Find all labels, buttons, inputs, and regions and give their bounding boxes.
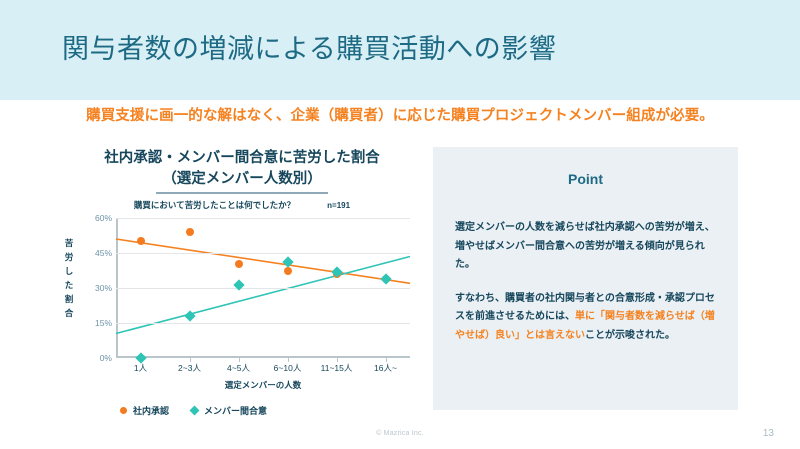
x-tick-label: 6~10人 [274,362,302,374]
point-panel-heading: Point [433,171,738,187]
y-tick-label: 45% [95,248,112,258]
point-paragraph-1: 選定メンバーの人数を減らせば社内承認への苦労が増え、増やせばメンバー間合意への苦… [455,219,716,275]
y-axis-title-char: た [62,278,76,292]
slide-header-band: 関与者数の増減による購買活動への影響 [0,0,800,100]
chart-title-divider [156,192,328,194]
slide-title: 関与者数の増減による購買活動への影響 [62,35,556,65]
point-paragraph-2-text-b: ことが示唆された。 [585,330,675,341]
x-tick-label: 16人~ [374,362,397,374]
chart-plot-wrapper: 苦労した割合 0%15%30%45%60% 1人2~3人4~5人6~10人11~… [62,218,422,393]
legend-item[interactable]: メンバー間合意 [191,404,267,417]
chart-sample-size: n=191 [327,201,350,210]
legend-item[interactable]: 社内承認 [120,404,169,417]
chart-y-axis-title: 苦労した割合 [62,236,76,320]
y-axis-title-char: 割 [62,292,76,306]
chart-title-line-2: （選定メンバー人数別） [72,169,412,190]
point-paragraph-2: すなわち、購買者の社内関与者との合意形成・承認プロセスを前進させるためには、単に… [455,290,716,346]
legend-label: 社内承認 [133,404,169,417]
legend-marker-circle-icon [120,407,127,414]
y-axis-title-char: 苦 [62,236,76,250]
gridline [116,218,410,219]
page-number: 13 [763,428,774,439]
y-axis-title-char: 労 [62,250,76,264]
chart-x-axis-title: 選定メンバーの人数 [116,379,410,391]
gridline [116,323,410,324]
data-point-circle [186,228,194,236]
data-point-circle [284,267,292,275]
chart-block: 社内承認・メンバー間合意に苦労した割合 （選定メンバー人数別） 購買において苦労… [62,148,422,418]
gridline [116,253,410,254]
y-tick-label: 15% [95,318,112,328]
chart-subtitle: 購買において苦労したことは何でしたか？ [134,199,295,211]
y-tick-label: 0% [100,353,112,363]
gridline [116,288,410,289]
y-axis-title-char: 合 [62,306,76,320]
footer-copyright: © Mazrica Inc. [0,430,800,437]
data-point-circle [235,260,243,268]
y-axis-title-char: し [62,264,76,278]
point-panel-body: 選定メンバーの人数を減らせば社内承認への苦労が増え、増やせばメンバー間合意への苦… [455,219,716,345]
slide-lead-message: 購買支援に画一的な解はなく、企業（購買者）に応じた購買プロジェクトメンバー組成が… [0,104,800,125]
chart-x-tick-labels: 1人2~3人4~5人6~10人11~15人16人~ [116,362,410,376]
x-tick-label: 4~5人 [227,362,250,374]
x-tick-label: 11~15人 [321,362,353,374]
x-tick-label: 2~3人 [178,362,201,374]
chart-title: 社内承認・メンバー間合意に苦労した割合 （選定メンバー人数別） [62,148,422,190]
chart-title-line-1: 社内承認・メンバー間合意に苦労した割合 [72,148,412,169]
chart-legend: 社内承認メンバー間合意 [120,404,267,417]
data-point-circle [137,237,145,245]
legend-marker-diamond-icon [190,406,200,416]
chart-plot-area [116,218,410,358]
x-tick-label: 1人 [134,362,147,374]
y-tick-label: 60% [95,213,112,223]
chart-subtitle-row: 購買において苦労したことは何でしたか？ n=191 [62,199,422,211]
y-tick-label: 30% [95,283,112,293]
point-panel: Point 選定メンバーの人数を減らせば社内承認への苦労が増え、増やせばメンバー… [433,147,738,410]
chart-y-tick-labels: 0%15%30%45%60% [80,218,112,358]
legend-label: メンバー間合意 [204,404,267,417]
